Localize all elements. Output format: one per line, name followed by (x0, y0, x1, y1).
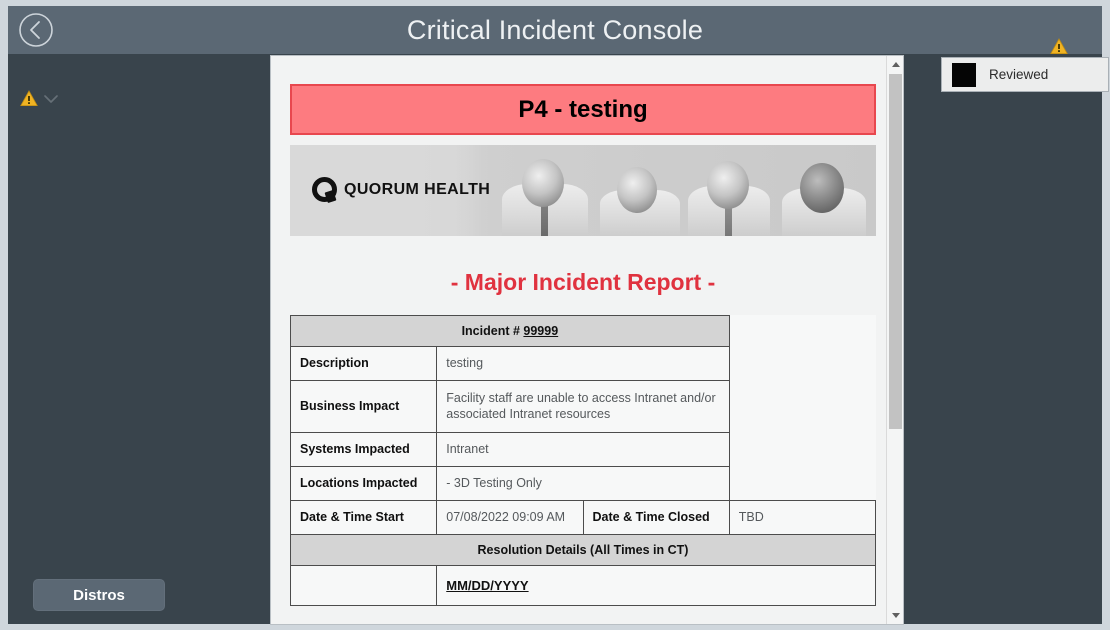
title-bar: Critical Incident Console (8, 6, 1102, 54)
resolution-date-cell: MM/DD/YYYY (437, 565, 876, 605)
scroll-up-button[interactable] (887, 56, 904, 73)
table-row: Locations Impacted - 3D Testing Only (291, 466, 876, 500)
reviewed-label: Reviewed (989, 67, 1048, 82)
table-row: Systems Impacted Intranet (291, 432, 876, 466)
scrollbar-thumb[interactable] (889, 74, 902, 429)
page-title: Critical Incident Console (8, 15, 1102, 46)
document-page: P4 - testing QUORUM HEALTH (271, 56, 887, 624)
report-title: - Major Incident Report - (290, 269, 876, 296)
table-row-resolution-entry: MM/DD/YYYY (291, 565, 876, 605)
table-row-resolution-header: Resolution Details (All Times in CT) (291, 534, 876, 565)
row-label: Systems Impacted (291, 432, 437, 466)
quorum-logo-text: QUORUM HEALTH (344, 181, 490, 199)
incident-number-prefix: Incident # (462, 324, 524, 338)
warning-triangle-icon (20, 90, 38, 107)
quorum-q-icon (312, 177, 337, 202)
incident-table: Incident # 99999 Description testing Bus… (290, 315, 876, 606)
quorum-logo: QUORUM HEALTH (312, 177, 490, 202)
distros-button[interactable]: Distros (33, 579, 165, 611)
date-closed-value: TBD (729, 500, 875, 534)
reviewed-item[interactable]: Reviewed (941, 57, 1109, 92)
resolution-blank-cell (291, 565, 437, 605)
document-scrollbar[interactable] (886, 56, 903, 624)
date-closed-label: Date & Time Closed (583, 500, 729, 534)
sidebar-warning-item[interactable] (20, 90, 58, 107)
chevron-down-icon (44, 94, 58, 104)
quorum-health-banner: QUORUM HEALTH (290, 145, 876, 236)
triangle-up-icon (892, 62, 900, 67)
sidebar: Distros (8, 54, 270, 624)
resolution-header: Resolution Details (All Times in CT) (291, 534, 876, 565)
priority-banner: P4 - testing (290, 84, 876, 135)
scroll-down-button[interactable] (887, 607, 904, 624)
row-label: Business Impact (291, 380, 437, 432)
date-start-value: 07/08/2022 09:09 AM (437, 500, 583, 534)
triangle-down-icon (892, 613, 900, 618)
document-viewer: P4 - testing QUORUM HEALTH (270, 55, 904, 625)
row-label: Locations Impacted (291, 466, 437, 500)
row-label: Description (291, 347, 437, 381)
incident-number-value: 99999 (523, 324, 558, 338)
table-row: Business Impact Facility staff are unabl… (291, 380, 876, 432)
row-value: Intranet (437, 432, 730, 466)
warning-triangle-icon[interactable] (1050, 38, 1068, 55)
resolution-date-placeholder: MM/DD/YYYY (446, 578, 528, 593)
row-value: Facility staff are unable to access Intr… (437, 380, 730, 432)
row-value: testing (437, 347, 730, 381)
table-row: Description testing (291, 347, 876, 381)
app-window: Critical Incident Console Distros P4 - t… (0, 0, 1110, 630)
table-row-incident-number: Incident # 99999 (291, 316, 876, 347)
row-value: - 3D Testing Only (437, 466, 730, 500)
incident-number-cell: Incident # 99999 (291, 316, 730, 347)
table-row-dates: Date & Time Start 07/08/2022 09:09 AM Da… (291, 500, 876, 534)
back-button[interactable] (16, 10, 56, 50)
reviewed-color-swatch (952, 63, 976, 87)
date-start-label: Date & Time Start (291, 500, 437, 534)
